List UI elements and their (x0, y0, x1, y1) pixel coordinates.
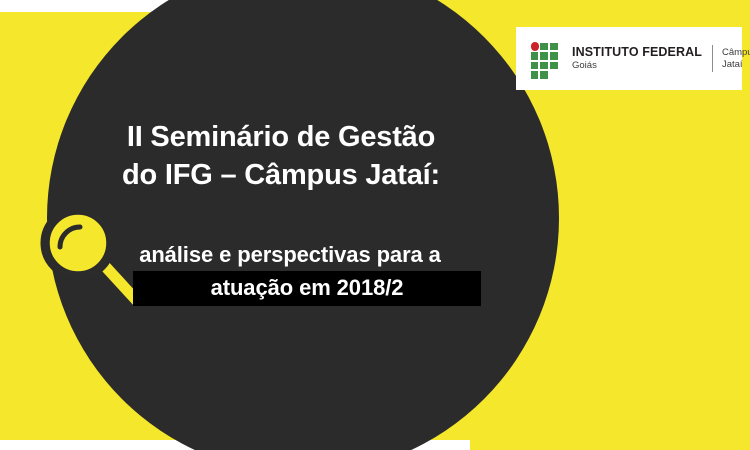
slide-title: II Seminário de Gestão do IFG – Câmpus J… (56, 118, 506, 195)
logo-institution-name: INSTITUTO FEDERAL (572, 46, 702, 59)
presentation-slide: INSTITUTO FEDERAL Goiás Câmpus Jataí II … (0, 0, 750, 450)
logo-campus-line1: Câmpus (722, 47, 750, 59)
slide-subtitle-line-1: análise e perspectivas para a (70, 242, 510, 268)
logo-divider (712, 45, 713, 72)
instituto-federal-logo-icon (530, 42, 563, 75)
slide-subtitle-line-2: atuação em 2018/2 (133, 275, 481, 301)
logo-campus-name: Câmpus Jataí (722, 47, 750, 71)
logo-text-group: INSTITUTO FEDERAL Goiás Câmpus Jataí (572, 45, 750, 72)
logo-state-name: Goiás (572, 61, 702, 71)
institution-logo-card: INSTITUTO FEDERAL Goiás Câmpus Jataí (516, 27, 742, 90)
slide-title-line-1: II Seminário de Gestão (56, 118, 506, 156)
slide-title-line-2: do IFG – Câmpus Jataí: (56, 156, 506, 194)
logo-red-dot (531, 42, 540, 51)
logo-primary-text: INSTITUTO FEDERAL Goiás (572, 46, 702, 70)
logo-campus-line2: Jataí (722, 59, 750, 71)
